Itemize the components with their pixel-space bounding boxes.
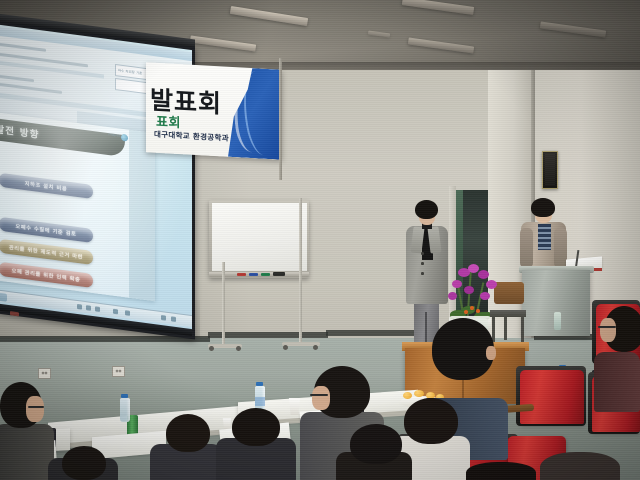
- start-button-icon[interactable]: [0, 291, 7, 302]
- lecture-hall-photo: 하수 처리장 기준 으로의 발전 방향 mapss 지하조 설치 비용: [0, 0, 640, 480]
- whiteboard-leg: [222, 262, 225, 344]
- audience-head: [540, 452, 620, 480]
- audience-ear: [486, 346, 496, 360]
- slide-box-1: 지하조 설치 비용: [0, 173, 93, 199]
- coat-button-icon: [421, 262, 424, 265]
- slide-box-label: 지하조 설치 비용: [25, 180, 67, 193]
- slide-box-label: 관리를 위한 제도적 근거 마련: [9, 243, 83, 260]
- presenter-arm: [520, 228, 533, 268]
- chair-leg: [521, 316, 524, 342]
- audience-head: [466, 462, 536, 480]
- whiteboard-caster-icon: [283, 345, 288, 350]
- audience-face: [26, 396, 44, 422]
- chair-backrest: [494, 282, 524, 304]
- whiteboard-surface: [212, 203, 307, 271]
- whiteboard-caster-icon: [313, 345, 318, 350]
- whiteboard-leg: [299, 198, 302, 344]
- window-text-line: [0, 82, 62, 94]
- orchid-bloom: [478, 270, 489, 279]
- eyeglasses-icon: [28, 406, 44, 408]
- berry-accent: [470, 306, 474, 310]
- banner-organization: 대구대학교 환경공학과: [154, 129, 229, 144]
- berry-accent: [476, 309, 480, 313]
- eyeglasses-icon: [310, 394, 328, 396]
- presenter-hair: [531, 198, 555, 217]
- audience-body: [594, 352, 640, 412]
- audience-head: [404, 398, 458, 444]
- orchid-bloom: [452, 280, 462, 288]
- taskbar-item-icon[interactable]: [77, 304, 82, 310]
- coat-button-icon: [421, 252, 424, 255]
- orchid-bloom: [464, 286, 474, 294]
- slide-box-2: 오폐수 수질에 기준 검토: [0, 217, 93, 243]
- coat-button-icon: [421, 272, 424, 275]
- marker-icon: [237, 273, 246, 276]
- chair-leg: [504, 316, 507, 340]
- orchid-bloom: [448, 292, 457, 300]
- audience-head: [350, 424, 402, 464]
- wall-outlet: [38, 368, 51, 379]
- orchid-bloom: [468, 264, 479, 273]
- audience-face: [312, 386, 330, 410]
- podium-water-bottle: [554, 312, 561, 330]
- wall-speaker-icon: [542, 151, 558, 189]
- taskbar-item-icon[interactable]: [86, 305, 91, 311]
- bottle-cap: [121, 394, 128, 398]
- slide-box-3: 관리를 위한 제도적 근거 마련: [0, 239, 93, 265]
- audience-head: [62, 446, 106, 480]
- window-text-line: [0, 42, 46, 52]
- slide-box-4: 오폐 관리를 위한 인력 확충: [0, 262, 93, 288]
- audience-face: [600, 318, 616, 342]
- system-tray-icon[interactable]: [161, 315, 166, 321]
- audience-body: [0, 424, 54, 480]
- eyeglasses-icon: [598, 326, 616, 328]
- audience-head: [432, 318, 494, 380]
- fruit-slice: [414, 390, 424, 397]
- window-text-line: [0, 74, 34, 83]
- wooden-chair: [490, 282, 526, 344]
- auditorium-seat: [520, 370, 584, 424]
- whiteboard-caster-icon: [209, 346, 214, 351]
- system-tray-icon[interactable]: [171, 316, 176, 322]
- orchid-bloom: [480, 292, 490, 300]
- marker-icon: [261, 273, 270, 276]
- presentation-slide: 으로의 발전 방향 mapss 지하조 설치 비용 오폐수 수질에 기준 검토 …: [0, 107, 155, 301]
- slide-side-panel: [129, 130, 155, 301]
- presenter-striped-top: [538, 224, 551, 250]
- slide-box-label: 오폐수 수질에 기준 검토: [16, 222, 77, 237]
- bottle-cap: [256, 382, 263, 386]
- presenter-hair: [415, 200, 438, 219]
- banner-swoosh-graphic: [228, 67, 282, 160]
- slide-box-label: 오폐 관리를 위한 인력 확충: [12, 267, 81, 283]
- berry-accent: [464, 310, 468, 314]
- baseboard: [208, 332, 328, 338]
- marker-icon: [249, 273, 258, 276]
- taskbar-item-icon[interactable]: [113, 309, 118, 315]
- eraser-icon: [273, 272, 285, 276]
- taskbar-item-icon[interactable]: [95, 306, 100, 312]
- wall-outlet: [112, 366, 125, 377]
- audience-head: [166, 414, 210, 452]
- banner-support-pole: [279, 58, 282, 180]
- event-banner: 발표회 표회 대구대학교 환경공학과: [146, 62, 282, 160]
- fruit-slice: [403, 392, 412, 399]
- bottle-label: [255, 397, 265, 406]
- taskbar-item-icon[interactable]: [125, 310, 130, 316]
- water-bottle: [120, 398, 130, 422]
- whiteboard-caster-icon: [236, 346, 241, 351]
- audience-head: [232, 408, 280, 446]
- orchid-bloom: [486, 280, 497, 289]
